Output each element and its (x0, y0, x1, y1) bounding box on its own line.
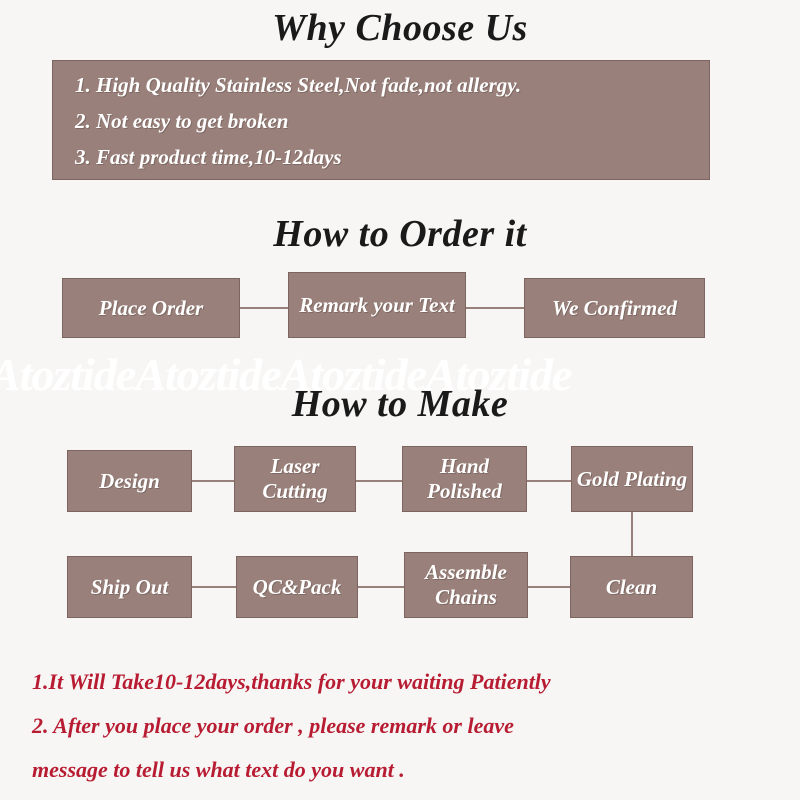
footer-note-line-1: 1.It Will Take10-12days,thanks for your … (32, 660, 772, 704)
section-title-how-to-make: How to Make (0, 382, 800, 426)
footer-note-line-3: message to tell us what text do you want… (32, 748, 772, 792)
order-step-we-confirmed: We Confirmed (524, 278, 705, 338)
order-step-place-order: Place Order (62, 278, 240, 338)
footer-notes: 1.It Will Take10-12days,thanks for your … (32, 660, 772, 792)
make-step-assemble-chains: Assemble Chains (404, 552, 528, 618)
connector-make-3 (527, 480, 571, 482)
why-choose-us-line-2: 2. Not easy to get broken (75, 103, 709, 139)
make-step-design: Design (67, 450, 192, 512)
make-step-gold-plating: Gold Plating (571, 446, 693, 512)
why-choose-us-line-3: 3. Fast product time,10-12days (75, 139, 709, 175)
section-title-how-to-order: How to Order it (0, 212, 800, 256)
make-step-clean: Clean (570, 556, 693, 618)
make-step-qc-and-pack: QC&Pack (236, 556, 358, 618)
infographic-page: AtoztideAtoztideAtoztideAtoztide Why Cho… (0, 0, 800, 800)
make-step-ship-out: Ship Out (67, 556, 192, 618)
footer-note-line-2: 2. After you place your order , please r… (32, 704, 772, 748)
make-step-laser-cutting: Laser Cutting (234, 446, 356, 512)
connector-order-2 (466, 307, 524, 309)
why-choose-us-panel: 1. High Quality Stainless Steel,Not fade… (52, 60, 710, 180)
make-step-hand-polished: Hand Polished (402, 446, 527, 512)
connector-make-2 (356, 480, 402, 482)
order-step-remark-your-text: Remark your Text (288, 272, 466, 338)
connector-make-vertical (631, 512, 633, 556)
connector-make-5 (358, 586, 404, 588)
connector-order-1 (240, 307, 288, 309)
connector-make-1 (192, 480, 234, 482)
connector-make-6 (528, 586, 570, 588)
connector-make-4 (192, 586, 236, 588)
section-title-why-choose-us: Why Choose Us (0, 6, 800, 50)
why-choose-us-line-1: 1. High Quality Stainless Steel,Not fade… (75, 67, 709, 103)
